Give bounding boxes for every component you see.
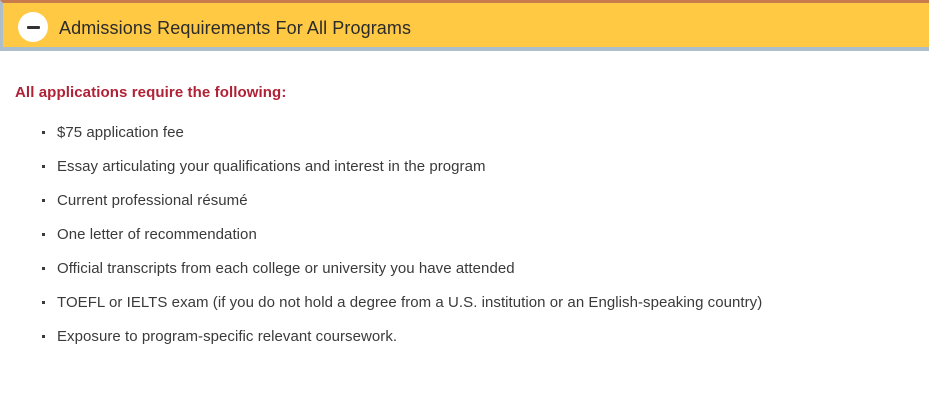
list-item: One letter of recommendation xyxy=(0,225,762,259)
list-item-label: $75 application fee xyxy=(57,124,184,141)
accordion-body: All applications require the following: … xyxy=(0,51,929,420)
bullet-icon xyxy=(42,165,45,168)
list-item-label: Official transcripts from each college o… xyxy=(57,260,515,277)
list-item: $75 application fee xyxy=(0,123,762,157)
requirements-list: $75 application fee Essay articulating y… xyxy=(0,123,762,361)
list-item: Essay articulating your qualifications a… xyxy=(0,157,762,191)
bullet-icon xyxy=(42,131,45,134)
list-item-label: Essay articulating your qualifications a… xyxy=(57,158,486,175)
bullet-icon xyxy=(42,267,45,270)
list-item: Exposure to program-specific relevant co… xyxy=(0,327,762,361)
bullet-icon xyxy=(42,301,45,304)
list-item-label: TOEFL or IELTS exam (if you do not hold … xyxy=(57,294,762,311)
requirements-heading: All applications require the following: xyxy=(15,83,286,103)
admissions-requirements-accordion: Admissions Requirements For All Programs… xyxy=(0,0,929,420)
list-item-label: Current professional résumé xyxy=(57,192,248,209)
list-item-label: Exposure to program-specific relevant co… xyxy=(57,328,397,345)
minus-icon[interactable] xyxy=(18,12,48,42)
accordion-header[interactable]: Admissions Requirements For All Programs xyxy=(0,0,929,51)
minus-icon-bar xyxy=(27,26,40,29)
accordion-title: Admissions Requirements For All Programs xyxy=(59,15,411,41)
bullet-icon xyxy=(42,199,45,202)
list-item-label: One letter of recommendation xyxy=(57,226,257,243)
bullet-icon xyxy=(42,233,45,236)
list-item: Current professional résumé xyxy=(0,191,762,225)
list-item: TOEFL or IELTS exam (if you do not hold … xyxy=(0,293,762,327)
bullet-icon xyxy=(42,335,45,338)
list-item: Official transcripts from each college o… xyxy=(0,259,762,293)
